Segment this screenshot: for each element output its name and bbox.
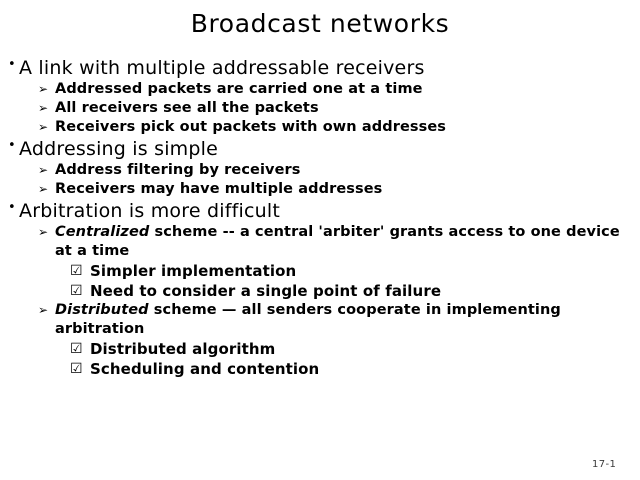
bullet-item-l2: ➢Address filtering by receivers [38,161,634,180]
bullet-item-l2: ➢All receivers see all the packets [38,99,634,118]
bullet-glyph-l3-icon: ☑ [70,281,90,301]
bullet-glyph-l2-icon: ➢ [38,99,55,118]
slide-canvas: Broadcast networks •A link with multiple… [0,0,640,480]
bullet-item-l2: ➢Addressed packets are carried one at a … [38,80,634,99]
bullet-glyph-l3-icon: ☑ [70,339,90,359]
bullet-text: Addressing is simple [19,137,218,161]
bullet-item-l2: ➢Distributed scheme — all senders cooper… [38,301,634,339]
slide-body: •A link with multiple addressable receiv… [8,56,634,379]
bullet-item-l3: ☑Simpler implementation [70,261,634,281]
bullet-item-l1: •A link with multiple addressable receiv… [8,56,634,80]
page-number: 17-1 [592,459,616,470]
bullet-item-l2: ➢Receivers may have multiple addresses [38,180,634,199]
bullet-text: Simpler implementation [90,261,296,281]
bullet-text: Centralized scheme -- a central 'arbiter… [55,223,630,261]
bullet-text: Addressed packets are carried one at a t… [55,80,423,99]
emphasized-term: Centralized [55,224,149,240]
bullet-text: Need to consider a single point of failu… [90,281,441,301]
bullet-glyph-l2-icon: ➢ [38,80,55,99]
bullet-glyph-l1-icon: • [8,53,19,77]
bullet-text: Arbitration is more difficult [19,199,280,223]
emphasized-term: Distributed [55,302,149,318]
bullet-text: Receivers may have multiple addresses [55,180,382,199]
bullet-item-l3: ☑Need to consider a single point of fail… [70,281,634,301]
bullet-item-l3: ☑Scheduling and contention [70,359,634,379]
bullet-glyph-l2-icon: ➢ [38,180,55,199]
bullet-glyph-l3-icon: ☑ [70,359,90,379]
bullet-item-l3: ☑Distributed algorithm [70,339,634,359]
bullet-glyph-l2-icon: ➢ [38,223,55,242]
page-title: Broadcast networks [0,9,640,39]
bullet-item-l2: ➢Centralized scheme -- a central 'arbite… [38,223,634,261]
bullet-item-l2: ➢Receivers pick out packets with own add… [38,118,634,137]
bullet-text: Distributed scheme — all senders coopera… [55,301,630,339]
bullet-glyph-l1-icon: • [8,196,19,220]
bullet-text: All receivers see all the packets [55,99,319,118]
bullet-text: Distributed algorithm [90,339,275,359]
bullet-glyph-l2-icon: ➢ [38,118,55,137]
bullet-glyph-l2-icon: ➢ [38,161,55,180]
bullet-glyph-l1-icon: • [8,134,19,158]
bullet-text: Address filtering by receivers [55,161,301,180]
bullet-glyph-l3-icon: ☑ [70,261,90,281]
bullet-item-l1: •Addressing is simple [8,137,634,161]
bullet-glyph-l2-icon: ➢ [38,301,55,320]
bullet-text: Scheduling and contention [90,359,319,379]
bullet-text: Receivers pick out packets with own addr… [55,118,446,137]
bullet-text: A link with multiple addressable receive… [19,56,425,80]
bullet-item-l1: •Arbitration is more difficult [8,199,634,223]
